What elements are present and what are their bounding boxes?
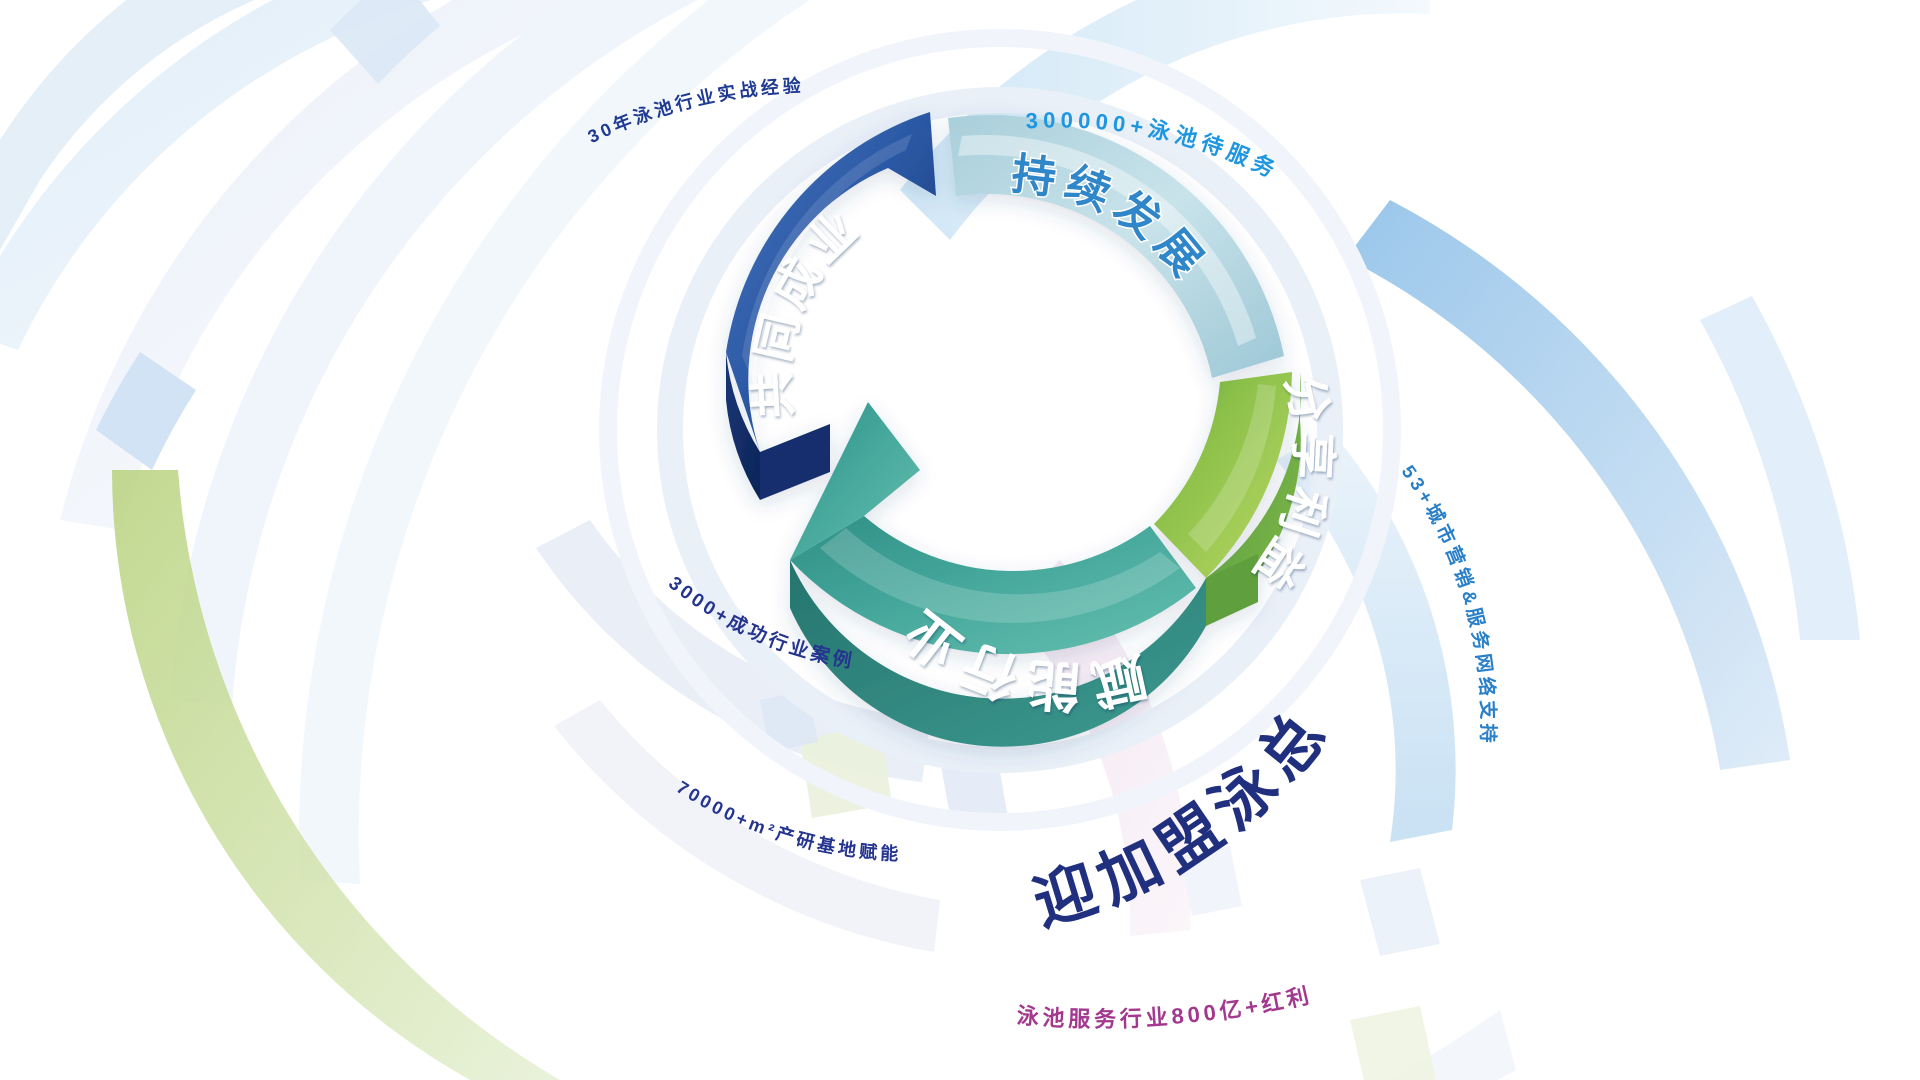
decor-chip-green-2	[1350, 1006, 1436, 1080]
segment-growth-side-b	[760, 424, 830, 500]
callout-dividend: 泳池服务行业800亿+红利	[1016, 982, 1315, 1032]
infographic-artwork: 共同成业 持续发展 分享利益 赋能行业 30年泳池行业实战经验 300000+泳…	[0, 0, 1920, 1080]
decor-chip-blue-3	[1360, 868, 1440, 956]
infographic-canvas: 共同成业 持续发展 分享利益 赋能行业 30年泳池行业实战经验 300000+泳…	[0, 0, 1920, 1080]
segment-growth-label: 共同成业	[744, 198, 871, 420]
